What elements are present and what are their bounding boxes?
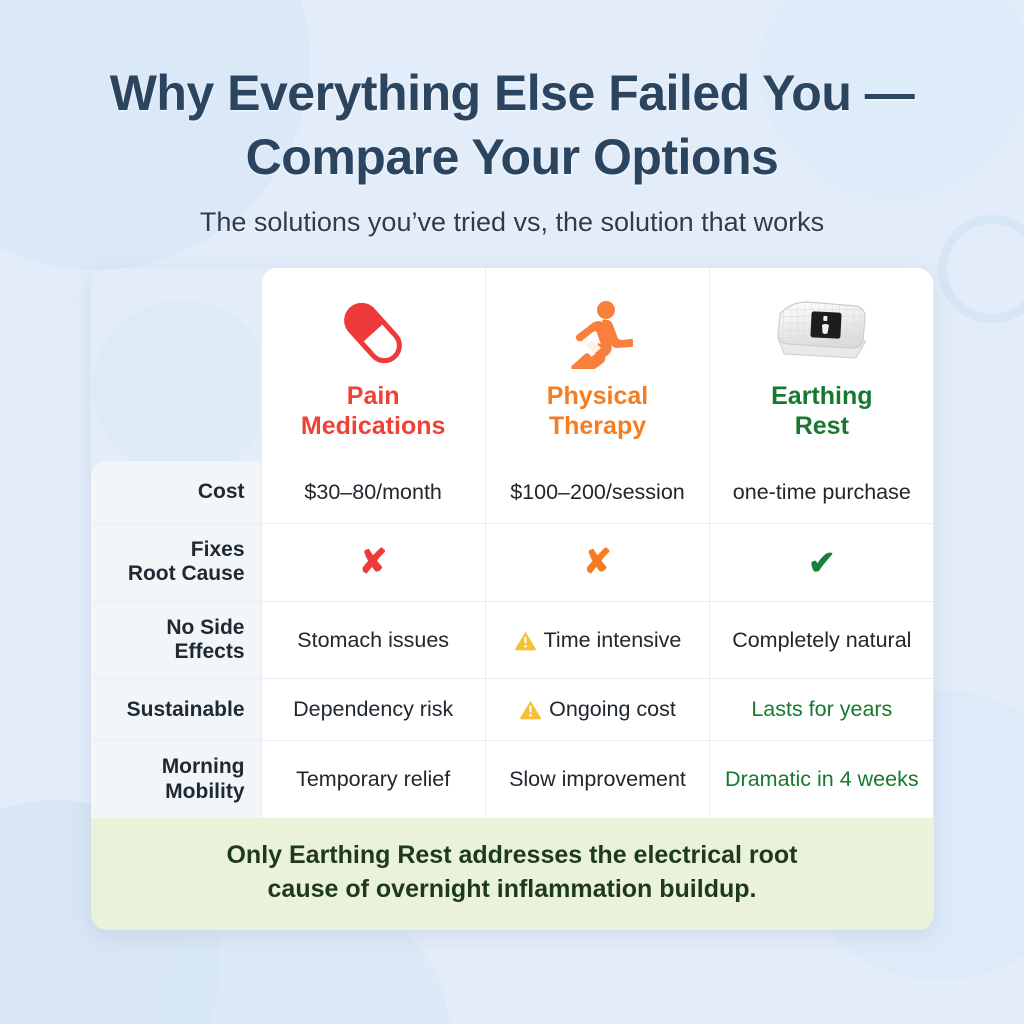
page-header: Why Everything Else Failed You — Compare… (0, 0, 1024, 238)
row-label: MorningMobility (91, 740, 261, 818)
cell-text: Completely natural (732, 628, 911, 653)
row-label-line-2: Effects (166, 640, 244, 664)
row-label: Cost (91, 461, 261, 523)
column-header-label-line-1: Pain (272, 382, 475, 412)
table-header-row: Pain Medications (91, 268, 934, 461)
row-label-line-2: Root Cause (128, 562, 245, 586)
cell-text: Slow improvement (509, 767, 686, 792)
footer-banner: Only Earthing Rest addresses the electri… (91, 818, 934, 930)
row-label-line-1: Fixes (128, 538, 245, 562)
cell-text: Ongoing cost (549, 697, 676, 722)
column-header-label: Earthing Rest (720, 382, 923, 441)
table-cell: Dependency risk (261, 678, 485, 740)
cross-icon-orange: ✘ (583, 545, 612, 579)
table-body: Cost$30–80/month$100–200/sessionone-time… (91, 461, 934, 818)
table-cell: ✘ (261, 523, 485, 601)
cell-text: $30–80/month (304, 480, 441, 505)
cell-text: Time intensive (544, 628, 682, 653)
table-cell: Time intensive (485, 601, 709, 679)
row-label-line-1: Sustainable (127, 698, 245, 722)
earthing-mat-icon (720, 294, 923, 372)
row-label: Sustainable (91, 678, 261, 740)
page-title-line-2: Compare Your Options (0, 126, 1024, 190)
table-cell: Temporary relief (261, 740, 485, 818)
page-title: Why Everything Else Failed You — Compare… (0, 62, 1024, 189)
pill-capsule-icon (272, 294, 475, 372)
comparison-table: Pain Medications (91, 268, 934, 930)
page-title-line-1: Why Everything Else Failed You — (0, 62, 1024, 126)
column-header-label-line-1: Physical (496, 382, 699, 412)
row-label: FixesRoot Cause (91, 523, 261, 601)
table-cell: $100–200/session (485, 461, 709, 523)
cell-text: Temporary relief (296, 767, 450, 792)
running-person-icon (496, 294, 699, 372)
table-cell: $30–80/month (261, 461, 485, 523)
cell-text: Dependency risk (293, 697, 453, 722)
cell-text: $100–200/session (510, 480, 685, 505)
warning-icon (514, 630, 537, 651)
column-header-label: Physical Therapy (496, 382, 699, 441)
table-cell: Slow improvement (485, 740, 709, 818)
row-label: No SideEffects (91, 601, 261, 679)
table-cell: ✘ (485, 523, 709, 601)
column-header-label-line-2: Therapy (496, 412, 699, 442)
row-label-line-1: No Side (166, 616, 244, 640)
check-icon-green: ✔ (808, 546, 836, 579)
column-header-label-line-2: Medications (272, 412, 475, 442)
footer-line-1: Only Earthing Rest addresses the electri… (131, 838, 894, 872)
table-cell: one-time purchase (709, 461, 933, 523)
table-cell: Lasts for years (709, 678, 933, 740)
cell-text: Dramatic in 4 weeks (725, 767, 919, 792)
column-header-label-line-2: Rest (720, 412, 923, 442)
table-cell: Dramatic in 4 weeks (709, 740, 933, 818)
table-cell: ✔ (709, 523, 933, 601)
row-label-line-1: Morning (162, 755, 245, 779)
cross-icon-red: ✘ (359, 545, 388, 579)
table-cell: Ongoing cost (485, 678, 709, 740)
column-header-physical-therapy: Physical Therapy (485, 268, 709, 461)
table-header-corner (91, 268, 261, 461)
column-header-label-line-1: Earthing (720, 382, 923, 412)
table-cell: Stomach issues (261, 601, 485, 679)
cell-text: one-time purchase (733, 480, 911, 505)
cell-text: Lasts for years (751, 697, 892, 722)
warning-icon (519, 699, 542, 720)
page-subtitle: The solutions you’ve tried vs, the solut… (0, 207, 1024, 238)
column-header-label: Pain Medications (272, 382, 475, 441)
footer-line-2: cause of overnight inflammation buildup. (131, 872, 894, 906)
row-label-line-1: Cost (198, 480, 245, 504)
row-label-line-2: Mobility (162, 780, 245, 804)
column-header-pain-medications: Pain Medications (261, 268, 485, 461)
column-header-earthing-rest: Earthing Rest (709, 268, 933, 461)
table-cell: Completely natural (709, 601, 933, 679)
cell-text: Stomach issues (297, 628, 449, 653)
